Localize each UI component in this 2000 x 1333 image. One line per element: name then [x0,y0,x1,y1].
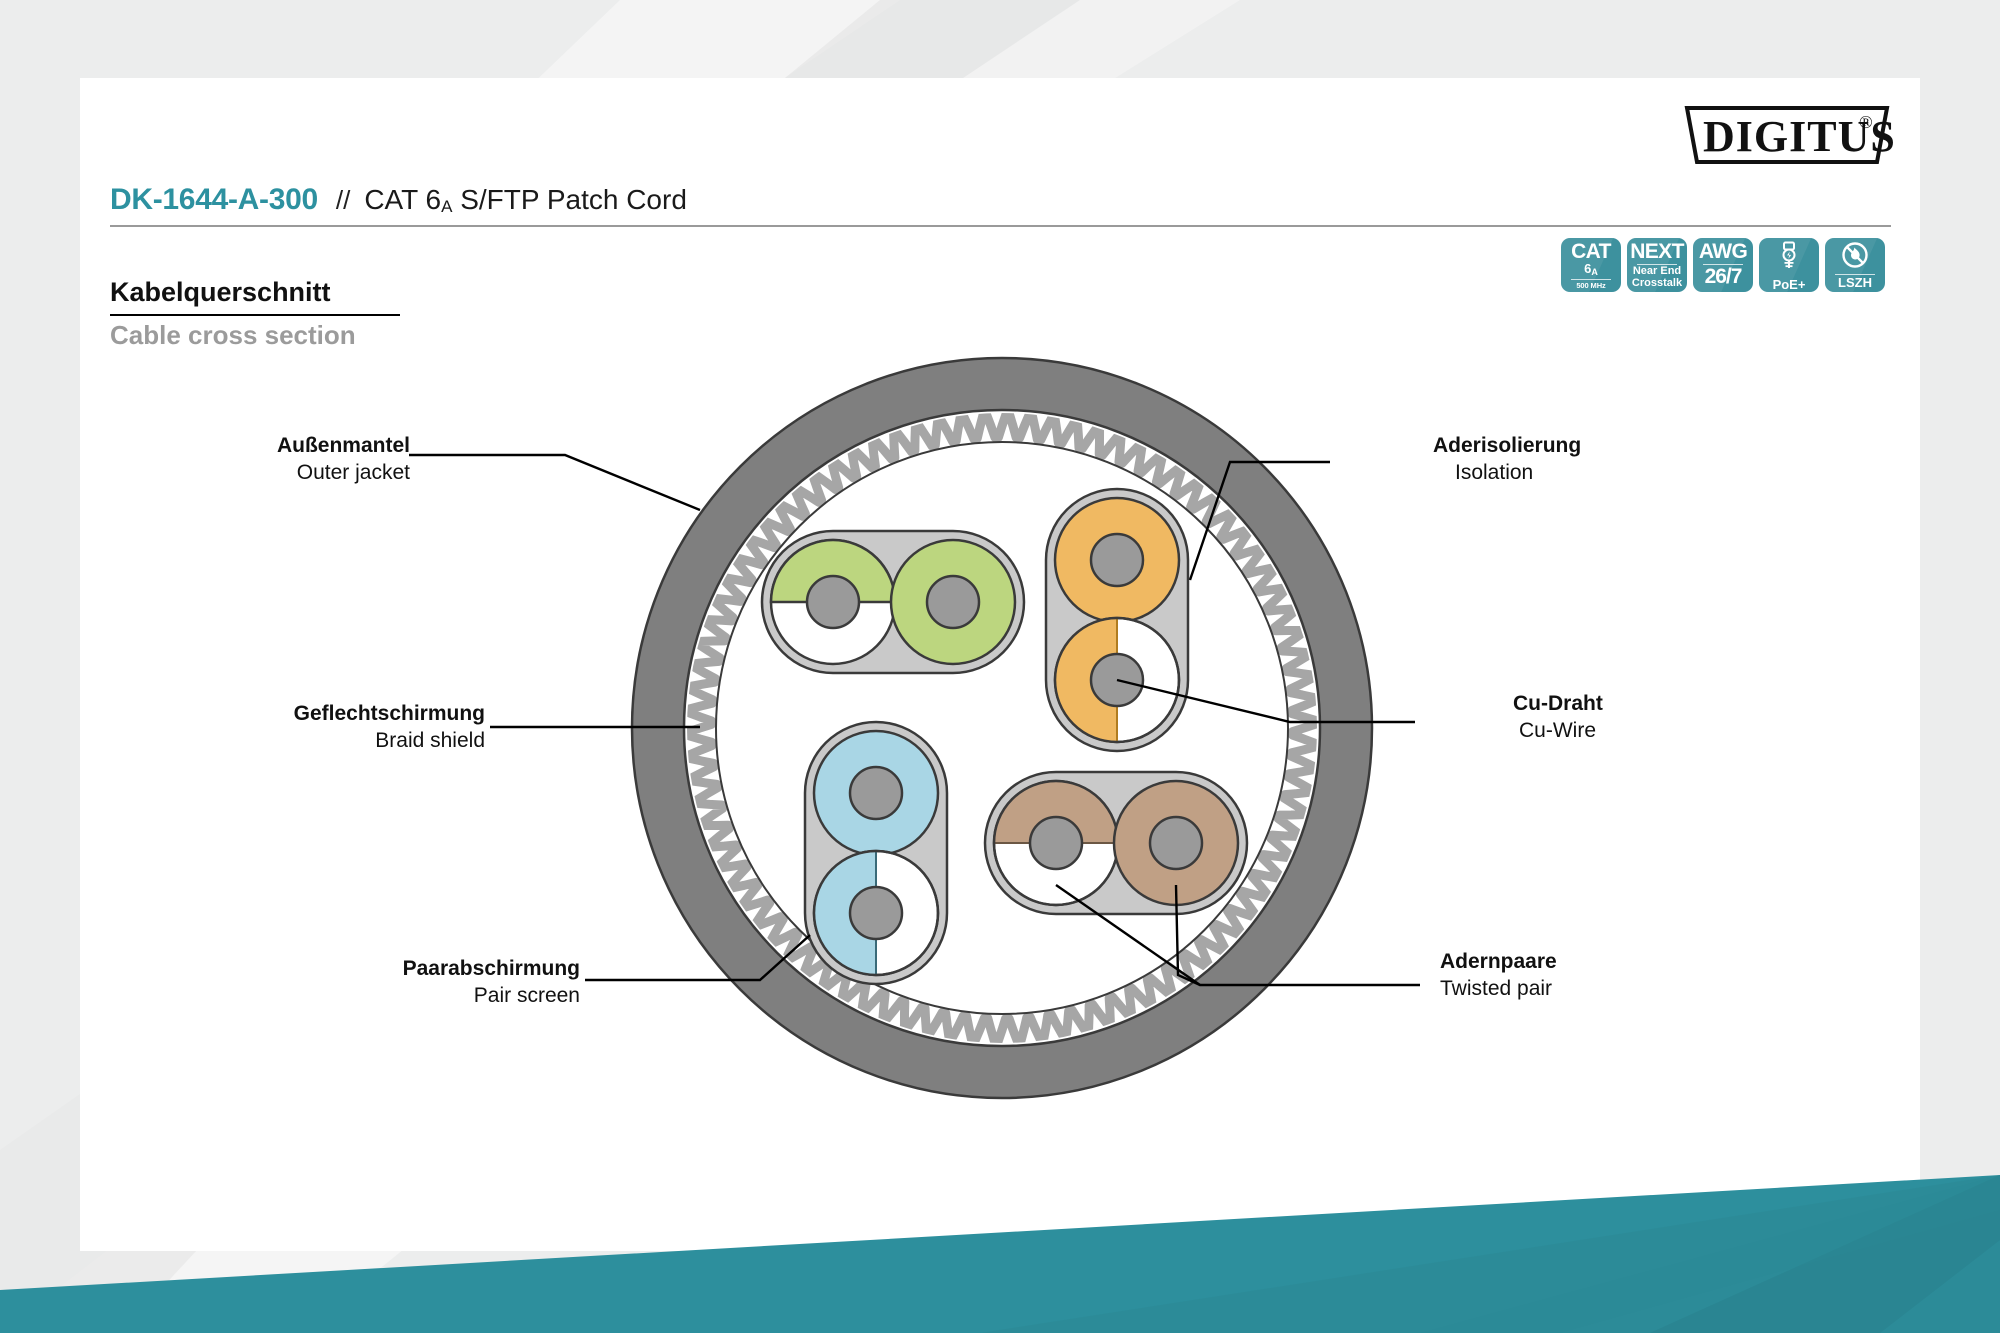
callout-twisted-pair-en: Twisted pair [1440,975,1770,1002]
awg-badge-value: 26/7 [1705,266,1742,287]
product-title-row: DK-1644-A-300 // CAT 6A S/FTP Patch Cord [110,183,687,217]
title-divider [110,225,1891,227]
cat-badge-sub-num: 6 [1584,261,1591,276]
callout-isolation-en: Isolation [1433,459,1763,486]
lszh-badge-label: LSZH [1838,276,1872,290]
digitus-logo: DIGITUS ® [1681,104,1893,166]
next-badge-line1: Near End [1633,266,1681,278]
callout-outer-jacket: Außenmantel Outer jacket [100,432,410,486]
cat-badge: CAT 6A 500 MHz [1561,238,1621,292]
next-badge-line2: Crosstalk [1632,278,1682,290]
cat-badge-footer: 500 MHz [1576,281,1605,290]
callout-twisted-pair: Adernpaare Twisted pair [1440,948,1770,1002]
callout-outer-jacket-en: Outer jacket [100,459,410,486]
awg-badge-main: AWG [1699,242,1747,262]
feature-badges: CAT 6A 500 MHz NEXT Near End Crosstalk A… [1561,238,1885,292]
callout-braid-shield: Geflechtschirmung Braid shield [100,700,485,754]
product-sku: DK-1644-A-300 [110,183,318,217]
section-heading-en: Cable cross section [110,320,356,351]
cat-badge-main: CAT [1571,242,1611,262]
callout-outer-jacket-de: Außenmantel [100,432,410,459]
callout-pair-screen-en: Pair screen [200,982,580,1009]
next-badge: NEXT Near End Crosstalk [1627,238,1687,292]
title-separator: // [336,185,350,216]
rj45-plug-icon [1777,241,1801,276]
callout-cu-wire: Cu-Draht Cu-Wire [1513,690,1843,744]
cat-badge-rule [1571,279,1611,280]
lszh-badge: LSZH [1825,238,1885,292]
callout-braid-shield-en: Braid shield [100,727,485,754]
callout-cu-wire-en: Cu-Wire [1513,717,1843,744]
poe-badge: PoE+ [1759,238,1819,292]
callout-twisted-pair-de: Adernpaare [1440,948,1770,975]
cat-badge-sub-letter: A [1591,267,1598,277]
product-name-subscript: A [441,197,452,216]
section-heading-de: Kabelquerschnitt [110,277,331,308]
cat-badge-sub: 6A [1584,262,1598,277]
callout-pair-screen-de: Paarabschirmung [200,955,580,982]
next-badge-main: NEXT [1630,242,1684,262]
callout-pair-screen: Paarabschirmung Pair screen [200,955,580,1009]
product-name-post: S/FTP Patch Cord [452,184,686,215]
no-flame-icon [1841,241,1869,274]
callout-isolation: Aderisolierung Isolation [1433,432,1763,486]
callout-isolation-de: Aderisolierung [1433,432,1763,459]
logo-registered-mark: ® [1859,112,1873,132]
callout-cu-wire-de: Cu-Draht [1513,690,1843,717]
product-name-pre: CAT 6 [364,184,441,215]
callout-braid-shield-de: Geflechtschirmung [100,700,485,727]
poe-badge-label: PoE+ [1773,278,1806,292]
product-name: CAT 6A S/FTP Patch Cord [364,184,687,216]
awg-badge: AWG 26/7 [1693,238,1753,292]
section-heading-divider [110,314,400,316]
